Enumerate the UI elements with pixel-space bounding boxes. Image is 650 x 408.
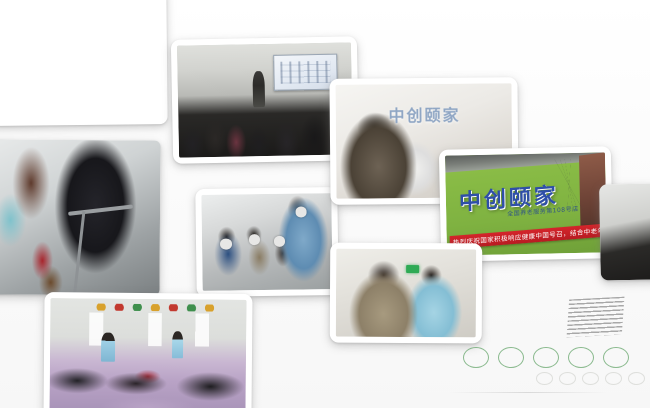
small-ring bbox=[559, 372, 576, 385]
small-ring bbox=[605, 372, 622, 385]
headphone-therapy-image bbox=[201, 193, 332, 291]
head-device-icon bbox=[273, 236, 285, 247]
right-edge-strip-photo bbox=[599, 183, 650, 280]
projector-screen bbox=[273, 54, 338, 91]
right-edge-strip-image bbox=[599, 183, 650, 280]
soft-divider bbox=[448, 392, 608, 393]
green-ring bbox=[533, 347, 559, 368]
audience-rows bbox=[178, 89, 353, 157]
man-and-nurse-photo bbox=[330, 243, 483, 344]
head-device-icon bbox=[249, 234, 261, 245]
green-ring bbox=[603, 347, 629, 368]
small-ring bbox=[628, 372, 645, 385]
head-device-icon bbox=[295, 207, 307, 218]
therapy-beds-photo bbox=[43, 292, 252, 408]
therapy-beds-image bbox=[50, 298, 247, 408]
patient-beds bbox=[50, 352, 247, 408]
window-row bbox=[50, 312, 246, 348]
exit-sign-icon bbox=[406, 265, 419, 273]
headphone-therapy-photo bbox=[195, 187, 338, 297]
small-ring bbox=[582, 372, 599, 385]
ceiling-garland bbox=[93, 303, 222, 312]
chair-armrest bbox=[68, 205, 133, 216]
clinic-exam-photo bbox=[0, 139, 161, 295]
green-ring bbox=[498, 347, 524, 368]
storefront-sign-image: 中创颐家 全国养老服务第108号店 热烈庆祝国家积极响应健康中国号召，结合中老年… bbox=[445, 152, 607, 255]
crowd-waving-image bbox=[0, 0, 168, 126]
green-ring bbox=[568, 347, 594, 368]
small-ring bbox=[536, 372, 553, 385]
hatched-line-block bbox=[567, 297, 625, 338]
green-ring bbox=[463, 347, 489, 368]
head-device-icon bbox=[220, 239, 232, 250]
man-and-nurse-image bbox=[336, 249, 476, 338]
crowd-waving-photo bbox=[0, 0, 168, 126]
clinic-exam-image bbox=[0, 139, 161, 295]
wall-brand-text: 中创颐家 bbox=[388, 102, 460, 127]
collage-canvas: 中创颐家 中创颐家 全国养老服务第108号店 热烈庆祝国家积极响应健康中国号召，… bbox=[0, 0, 650, 408]
lecture-room-image bbox=[177, 42, 353, 157]
chair-leg bbox=[73, 211, 85, 295]
